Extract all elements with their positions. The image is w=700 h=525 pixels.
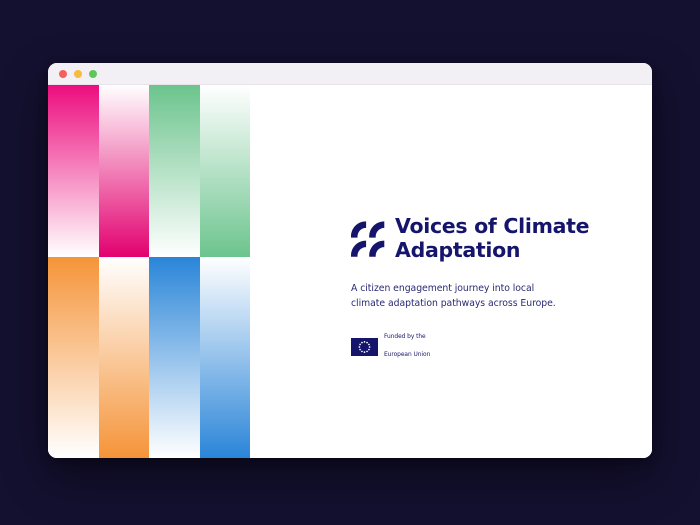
stripe-blue-solid	[149, 257, 200, 458]
browser-window: Voices of Climate Adaptation A citizen e…	[48, 63, 652, 458]
tagline: A citizen engagement journey into local …	[351, 281, 601, 311]
color-stripe-panel	[48, 85, 250, 458]
stripe-blue-fade	[200, 257, 251, 458]
voices-of-climate-adaptation-logo	[351, 221, 385, 257]
european-union-flag-icon	[351, 338, 378, 356]
stripe-pink-solid	[48, 85, 99, 257]
minimize-button[interactable]	[74, 70, 82, 78]
stripe-green-fade	[200, 85, 251, 257]
tagline-line-2: climate adaptation pathways across Europ…	[351, 296, 601, 311]
eu-text-line-2: European Union	[384, 351, 430, 360]
desktop: Voices of Climate Adaptation A citizen e…	[0, 0, 700, 525]
stripe-row-bottom	[48, 257, 250, 458]
hero-block: Voices of Climate Adaptation A citizen e…	[351, 215, 601, 369]
brand-lockup: Voices of Climate Adaptation	[351, 215, 601, 263]
stripe-orange-solid	[48, 257, 99, 458]
window-content: Voices of Climate Adaptation A citizen e…	[48, 85, 652, 458]
maximize-button[interactable]	[89, 70, 97, 78]
page-title: Voices of Climate Adaptation	[395, 215, 589, 263]
brand-title-line-1: Voices of Climate	[395, 215, 589, 239]
stripe-orange-fade	[99, 257, 150, 458]
stripe-green-solid	[149, 85, 200, 257]
eu-text-line-1: Funded by the	[384, 333, 430, 342]
content-panel: Voices of Climate Adaptation A citizen e…	[250, 85, 652, 458]
window-title-bar[interactable]	[48, 63, 652, 85]
brand-title-line-2: Adaptation	[395, 239, 589, 263]
eu-funding-badge: Funded by the European Union	[351, 325, 601, 369]
stripe-row-top	[48, 85, 250, 257]
tagline-line-1: A citizen engagement journey into local	[351, 281, 601, 296]
close-button[interactable]	[59, 70, 67, 78]
eu-funding-text: Funded by the European Union	[384, 325, 430, 369]
stripe-pink-fade	[99, 85, 150, 257]
